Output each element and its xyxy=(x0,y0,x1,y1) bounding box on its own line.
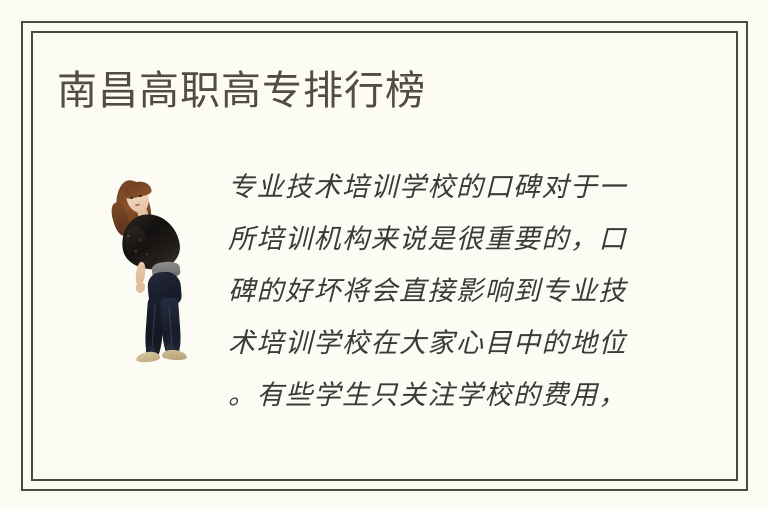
body-line: 。有些学生只关注学校的费用， xyxy=(228,370,648,422)
flat-shoe-front xyxy=(162,349,188,361)
body-line: 碑的好坏将会直接影响到专业技 xyxy=(228,266,648,318)
article-body: 专业技术培训学校的口碑对于一 所培训机构来说是很重要的，口 碑的好坏将会直接影响… xyxy=(228,162,648,422)
hand xyxy=(135,281,146,293)
flat-shoe-back xyxy=(136,351,161,363)
body-line: 专业技术培训学校的口碑对于一 xyxy=(228,162,648,214)
page-title: 南昌高职高专排行榜 xyxy=(57,67,426,115)
woman-photo-cutout xyxy=(108,178,204,370)
body-line: 术培训学校在大家心目中的地位 xyxy=(228,318,648,370)
article-card: 南昌高职高专排行榜 专业技术培训学校的口碑对于一 所培训机构来说是很重要的，口 … xyxy=(0,0,768,510)
body-line: 所培训机构来说是很重要的，口 xyxy=(228,214,648,266)
